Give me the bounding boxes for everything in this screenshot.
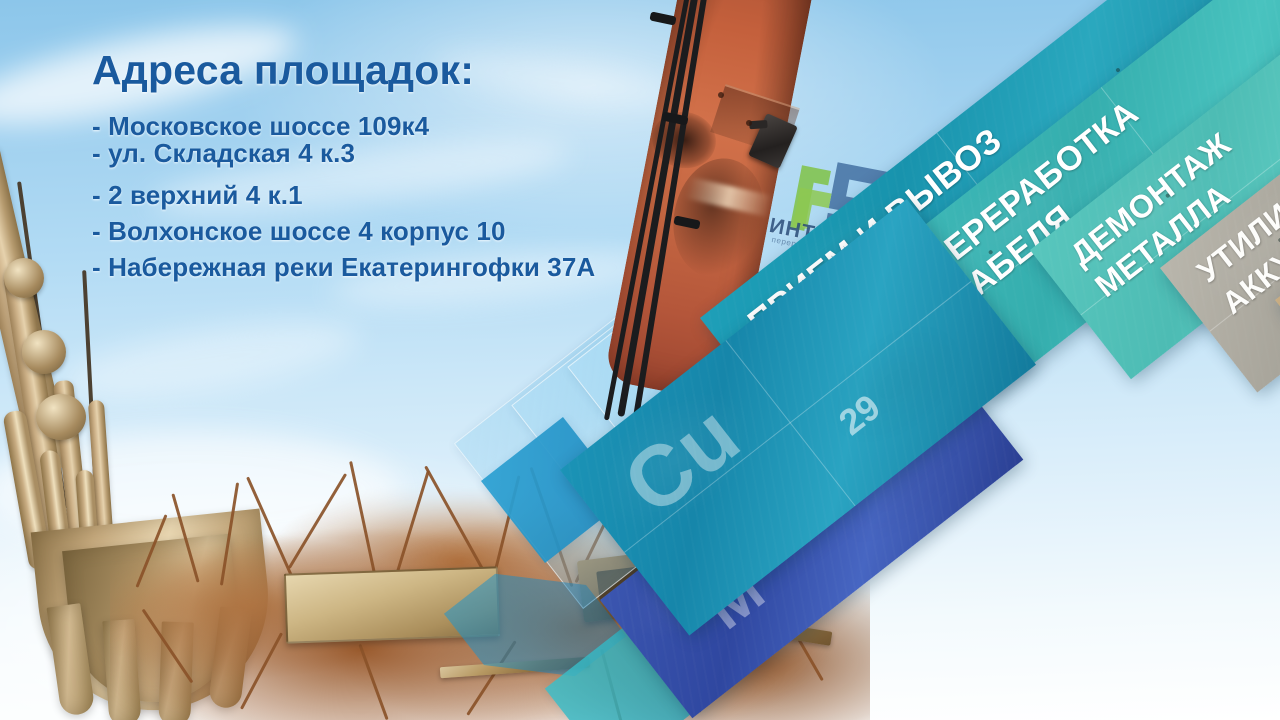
- address-item: - Набережная реки Екатерингофки 37А: [92, 253, 595, 282]
- page-title: Адреса площадок:: [92, 47, 474, 94]
- address-item: - 2 верхний 4 к.1: [92, 181, 595, 210]
- grapple-joint: [4, 258, 44, 298]
- grapple-joint: [22, 330, 66, 374]
- address-list: - Московское шоссе 109к4 - ул. Складская…: [92, 112, 595, 290]
- poster-canvas: ИНТЕРМЕТ переработка лома металлов ПРИЕМ…: [0, 0, 1280, 720]
- address-item: - Московское шоссе 109к4: [92, 112, 595, 141]
- hose-clamp: [649, 11, 676, 25]
- grapple-joint: [36, 394, 86, 440]
- address-item: - Волхонское шоссе 4 корпус 10: [92, 217, 595, 246]
- address-item: - ул. Складская 4 к.3: [92, 139, 595, 168]
